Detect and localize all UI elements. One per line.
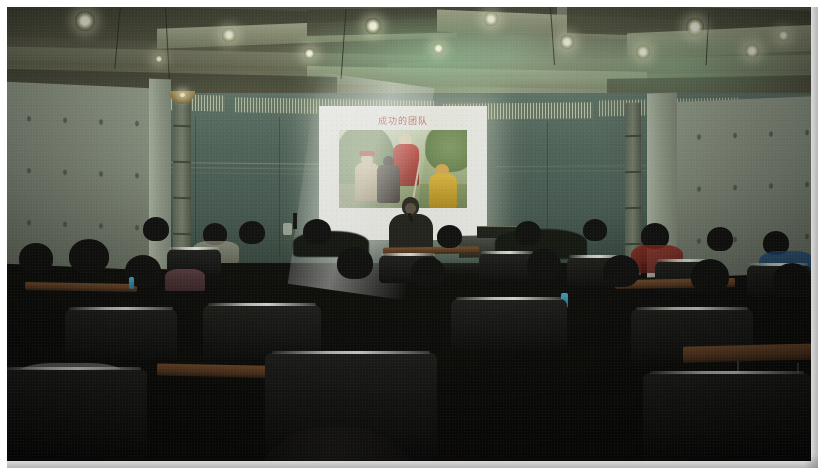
ceiling-downlight	[222, 28, 235, 41]
seated-audience	[7, 213, 811, 461]
ceiling-downlight	[636, 45, 649, 58]
ceiling-downlight	[433, 43, 444, 54]
ceiling-downlight	[304, 48, 315, 59]
ceiling-downlight	[75, 11, 95, 31]
ceiling-downlight	[745, 44, 758, 57]
ceiling-downlight	[778, 30, 789, 41]
ceiling-downlight	[365, 18, 380, 33]
ceiling-downlight	[484, 12, 497, 25]
ceiling-downlight	[686, 18, 704, 36]
ceiling-downlight	[560, 35, 573, 48]
water-bottle	[129, 277, 134, 289]
photograph-frame: 成功的团队	[0, 0, 825, 475]
lecture-hall-photograph: 成功的团队	[7, 7, 811, 461]
